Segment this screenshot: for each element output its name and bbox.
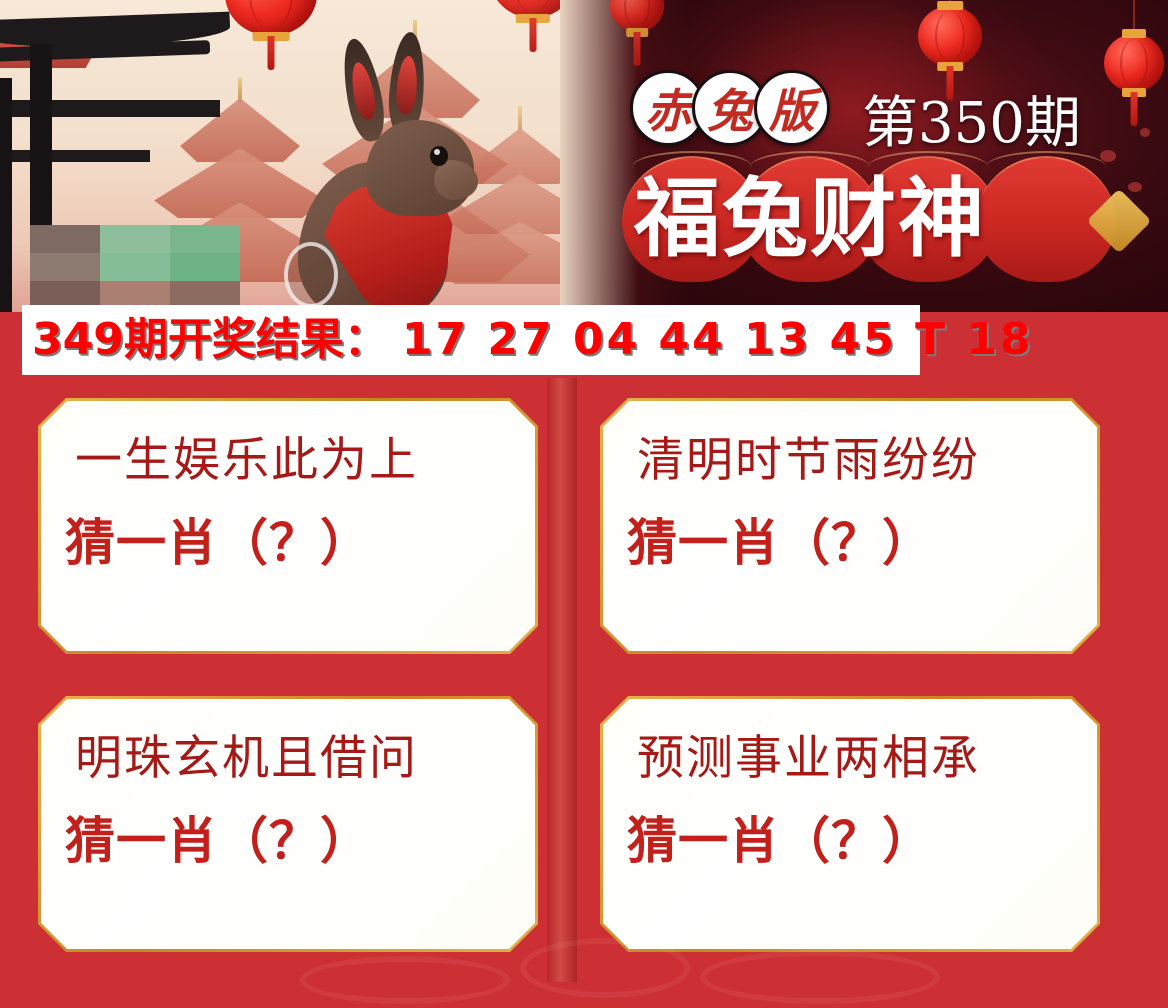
rabbit-tail <box>284 242 338 308</box>
rabbit-ear-left <box>336 36 389 145</box>
guess-prompt-3: 猜一肖（？） <box>65 814 511 869</box>
guess-prompt-1: 猜一肖（？） <box>65 516 511 571</box>
cloth-swirl <box>520 938 690 998</box>
cloth-swirl <box>300 956 510 1004</box>
rabbit-illustration <box>262 42 492 312</box>
banner-artwork: 赤 兔 版 第350期 福兔财神 <box>0 0 1168 312</box>
lantern-icon <box>918 6 982 66</box>
lantern-icon <box>1104 34 1164 92</box>
draw-result-numbers: 17 27 04 44 13 45 T 18 <box>402 318 1034 362</box>
cloth-swirl <box>700 950 940 1004</box>
blossom-speck <box>1128 182 1142 192</box>
draw-result-label: 349期开奖结果： <box>32 318 388 362</box>
censored-mosaic-patch <box>30 225 240 309</box>
riddle-text-3: 明珠玄机且借问 <box>65 733 511 786</box>
issue-number: 第350期 <box>862 96 1081 152</box>
riddle-text-2: 清明时节雨纷纷 <box>627 435 1073 488</box>
lantern-icon <box>610 0 664 32</box>
poster-page: 赤 兔 版 第350期 福兔财神 349期开奖结果： 17 27 04 44 1… <box>0 0 1168 1008</box>
rabbit-eye <box>430 146 448 166</box>
riddle-card-3[interactable]: 明珠玄机且借问 猜一肖（？） <box>38 696 538 952</box>
lantern-icon <box>225 0 317 36</box>
main-title-plaque: 福兔财神 <box>618 152 1128 286</box>
riddle-text-4: 预测事业两相承 <box>627 733 1073 786</box>
edition-badge-char-3: 版 <box>754 70 830 146</box>
riddle-card-2[interactable]: 清明时节雨纷纷 猜一肖（？） <box>600 398 1100 654</box>
edition-badge: 赤 兔 版 <box>630 70 816 146</box>
blossom-speck <box>1140 128 1150 137</box>
guess-prompt-4: 猜一肖（？） <box>627 814 1073 869</box>
main-title-text: 福兔财神 <box>618 152 1128 286</box>
riddle-text-1: 一生娱乐此为上 <box>65 435 511 488</box>
draw-result-strip: 349期开奖结果： 17 27 04 44 13 45 T 18 <box>22 305 920 375</box>
guess-prompt-2: 猜一肖（？） <box>627 516 1073 571</box>
riddle-card-grid: 一生娱乐此为上 猜一肖（？） 清明时节雨纷纷 猜一肖（？） 明珠玄机且借问 猜一… <box>0 378 1168 982</box>
riddle-card-4[interactable]: 预测事业两相承 猜一肖（？） <box>600 696 1100 952</box>
riddle-card-1[interactable]: 一生娱乐此为上 猜一肖（？） <box>38 398 538 654</box>
vertical-divider <box>547 378 577 982</box>
